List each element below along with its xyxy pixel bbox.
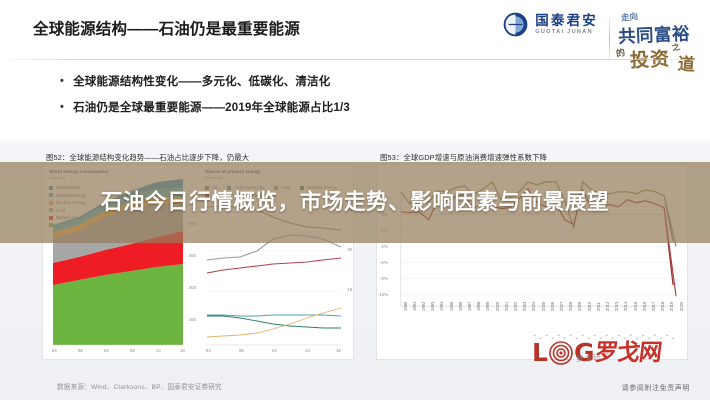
bullet-text: 石油仍是全球最重要能源——2019年全球能源占比1/3 <box>73 101 350 115</box>
x-tick-98: 98 <box>239 348 244 353</box>
x-tick-14: 14 <box>156 348 161 353</box>
x-tick-2014: 2014 <box>623 302 628 311</box>
x-tick-19: 19 <box>180 348 185 353</box>
bullet-item: • 石油仍是全球最重要能源——2019年全球能源占比1/3 <box>60 101 620 115</box>
x-tick-1990: 1990 <box>403 302 408 311</box>
x-tick-2020: 2020 <box>679 302 684 311</box>
x-tick-19: 19 <box>336 348 341 353</box>
logo-text-cn: 国泰君安 <box>535 14 598 28</box>
x-tick-1991: 1991 <box>412 302 417 311</box>
site-watermark: ⌃⌄⌃⌄⌃⌄⌃⌄⌃⌄⌃⌄⌃⌄⌃⌄⌃⌄⌃⌄⌃⌄⌃⌄ L G 罗戈研究 罗戈网 请参… <box>532 338 692 394</box>
x-tick-2008: 2008 <box>568 302 573 311</box>
x-tick-2017: 2017 <box>651 302 656 311</box>
x-tick-2004: 2004 <box>531 302 536 311</box>
x-tick-2013: 2013 <box>614 302 619 311</box>
x-tick-2019: 2019 <box>669 302 674 311</box>
x-tick-2005: 2005 <box>541 302 546 311</box>
x-tick-04: 04 <box>104 348 109 353</box>
logo-divider <box>609 14 610 64</box>
y-tick-300: 300 <box>189 285 196 290</box>
target-rings-icon <box>549 341 573 365</box>
watermark-letter-l: L <box>532 340 548 365</box>
calligraphy-line-6: 道 <box>677 49 696 75</box>
x-tick-04: 04 <box>272 348 277 353</box>
watermark-cn-text: 罗戈网 <box>594 341 663 364</box>
overlay-headline: 石油今日行情概览，市场走势、影响因素与前景展望 <box>0 162 710 243</box>
x-tick-1997: 1997 <box>467 302 472 311</box>
x-tick-2000: 2000 <box>495 302 500 311</box>
x-tick-2002: 2002 <box>513 302 518 311</box>
x-tick-2001: 2001 <box>504 302 509 311</box>
bullet-list: • 全球能源结构性变化——多元化、低碳化、清洁化 • 石油仍是全球最重要能源——… <box>60 75 620 128</box>
guotai-junan-logo: 国泰君安 GUOTAI JUNAN <box>503 12 598 37</box>
logo-wordmark: 国泰君安 GUOTAI JUNAN <box>535 14 598 36</box>
page-title: 全球能源结构——石油仍是最重要能源 <box>33 17 300 39</box>
y-tick-15: 15 <box>347 287 352 292</box>
x-tick-1998: 1998 <box>476 302 481 311</box>
guotai-junan-mark-icon <box>503 12 528 37</box>
x-tick-14: 14 <box>305 348 310 353</box>
x-tick-94: 94 <box>52 348 57 353</box>
calligraphy-slogan: 走向 共同富裕 的 投资 之 道 <box>612 6 706 78</box>
bullet-dot-icon: • <box>60 75 64 89</box>
x-tick-1994: 1994 <box>439 302 444 311</box>
x-tick-2012: 2012 <box>605 302 610 311</box>
x-tick-08: 08 <box>130 348 135 353</box>
bullet-text: 全球能源结构性变化——多元化、低碳化、清洁化 <box>73 75 330 89</box>
x-tick-2016: 2016 <box>642 302 647 311</box>
x-tick-2018: 2018 <box>660 302 665 311</box>
x-tick-2009: 2009 <box>577 302 582 311</box>
y-tick-30: 30 <box>347 247 352 252</box>
slide-header: 全球能源结构——石油仍是最重要能源 国泰君安 GUOTAI JUNAN 走向 共… <box>0 0 710 60</box>
x-tick-1993: 1993 <box>430 302 435 311</box>
x-tick-1999: 1999 <box>485 302 490 311</box>
x-tick-2007: 2007 <box>559 302 564 311</box>
logo-text-en: GUOTAI JUNAN <box>535 30 598 36</box>
header-divider <box>0 59 710 60</box>
x-tick-98: 98 <box>78 348 83 353</box>
watermark-disclaimer: 请参阅附注免责声明 <box>622 383 690 393</box>
y-tick-150: 150 <box>189 317 196 322</box>
x-tick-2010: 2010 <box>587 302 592 311</box>
bullet-dot-icon: • <box>60 101 64 115</box>
x-tick-1992: 1992 <box>421 302 426 311</box>
x-tick-2006: 2006 <box>550 302 555 311</box>
x-tick-1996: 1996 <box>458 302 463 311</box>
x-tick-2011: 2011 <box>596 302 601 311</box>
y-tick-450: 450 <box>189 253 196 258</box>
source-note: 数据来源：Wind、Clarksons、BP、国泰君安证券研究 <box>57 381 222 391</box>
x-tick-2003: 2003 <box>522 302 527 311</box>
x-tick-94: 94 <box>206 348 211 353</box>
x-tick-2015: 2015 <box>633 302 638 311</box>
x-tick-1995: 1995 <box>449 302 454 311</box>
bullet-item: • 全球能源结构性变化——多元化、低碳化、清洁化 <box>60 75 620 89</box>
slide-root: 全球能源结构——石油仍是最重要能源 国泰君安 GUOTAI JUNAN 走向 共… <box>0 0 710 400</box>
